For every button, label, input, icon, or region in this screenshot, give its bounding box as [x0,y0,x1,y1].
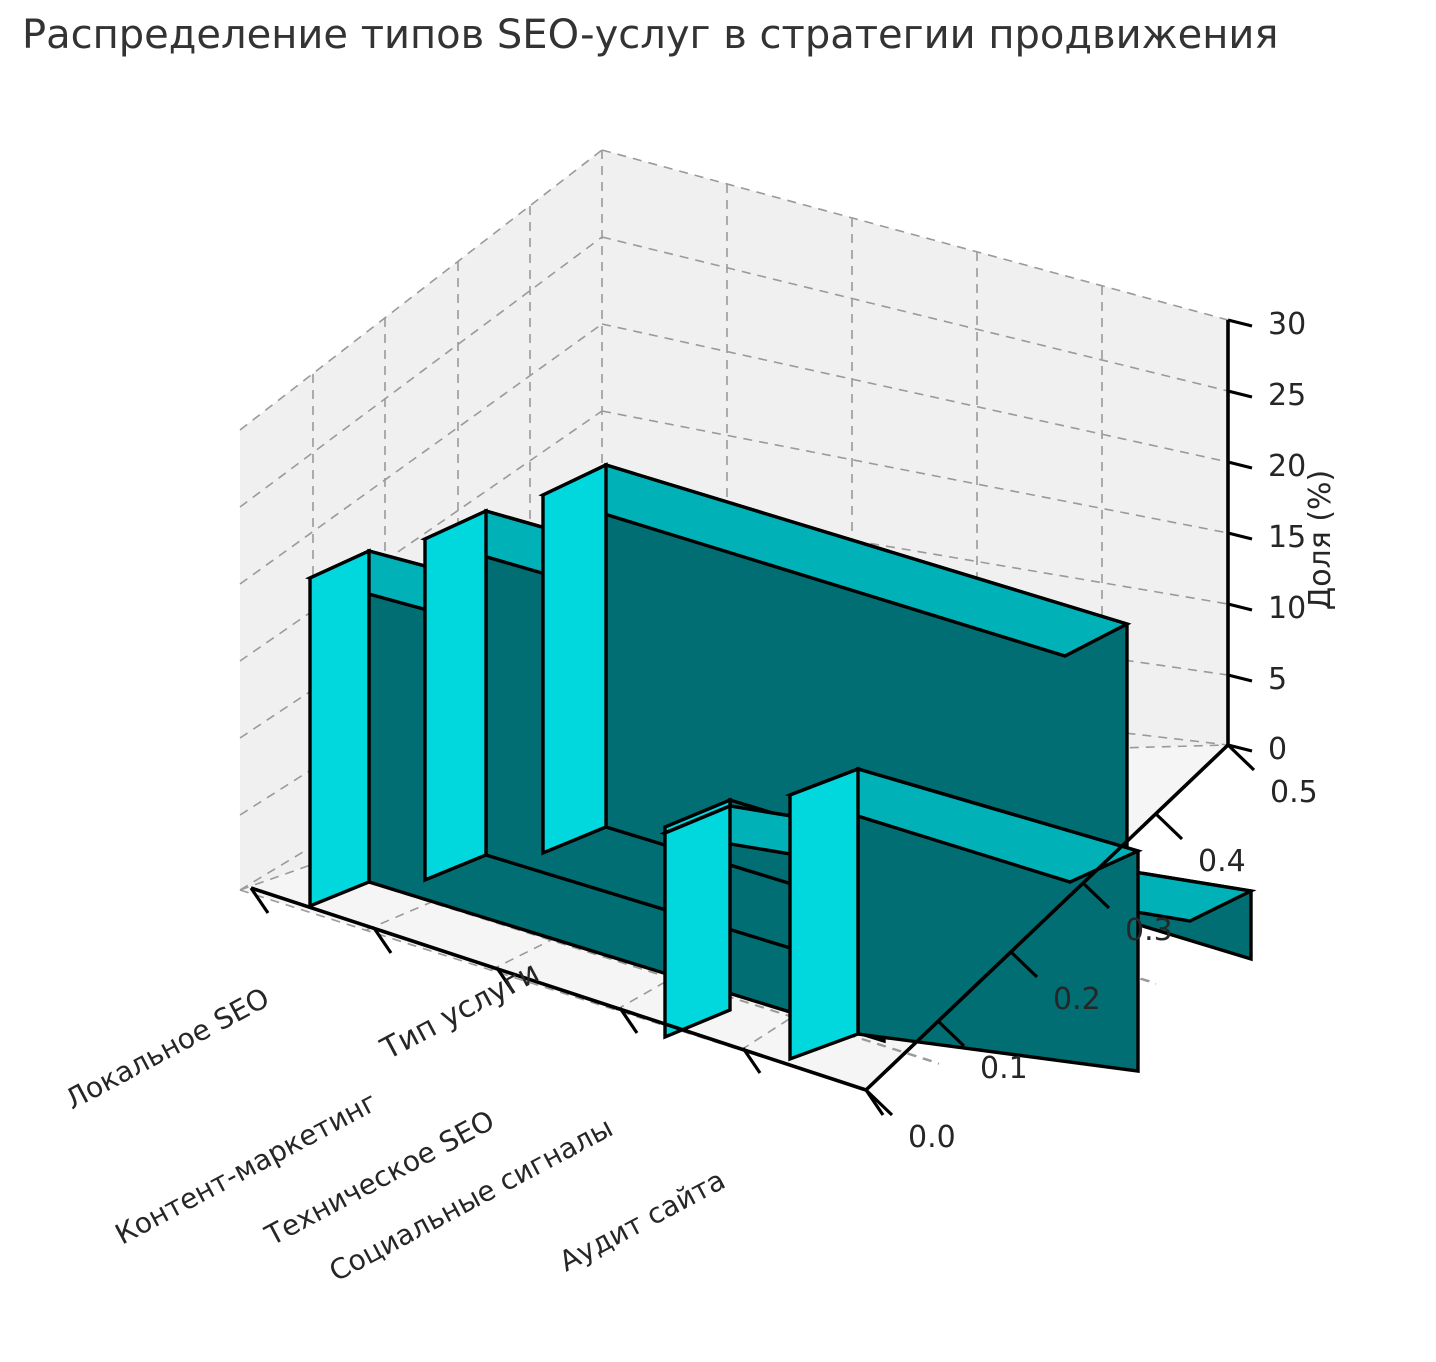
z-axis-ticks [1228,320,1252,751]
z-tick-label: 30 [1268,307,1306,342]
chart-canvas: 30 25 20 15 10 5 0 Доля (%) 0.5 0.4 0.3 … [0,0,1436,1362]
z-axis-title: Доля (%) [1303,470,1338,610]
y-tick-label: 0.4 [1198,844,1246,879]
chart-root: Распределение типов SEO-услуг в стратеги… [0,0,1436,1362]
z-tick-label: 10 [1268,591,1306,626]
bar-socialnye-signaly-overlay [665,806,730,1037]
z-tick-label: 5 [1268,662,1287,697]
bar-front-face [790,769,858,1059]
z-tick-label: 20 [1268,449,1306,484]
bar-front-face [310,551,369,906]
z-axis-tick-labels: 30 25 20 15 10 5 0 [1268,307,1306,767]
x-axis-title: Тип услуги [374,955,544,1068]
y-tick-label: 0.1 [980,1051,1028,1086]
x-tick-label: Контент-маркетинг [110,1085,383,1251]
bar-front-face [543,465,606,853]
y-tick-label: 0.0 [908,1120,956,1155]
y-tick-label: 0.3 [1125,913,1173,948]
z-tick-label: 25 [1268,378,1306,413]
x-tick-label: Локальное SEO [60,981,275,1116]
y-tick-label: 0.5 [1270,775,1318,810]
z-tick-label: 0 [1268,732,1287,767]
y-tick-label: 0.2 [1053,982,1101,1017]
bar-front-face [425,511,486,880]
z-tick-label: 15 [1268,520,1306,555]
bar-front-face-strip [665,806,730,1037]
x-tick-label: Аудит сайта [554,1163,731,1278]
